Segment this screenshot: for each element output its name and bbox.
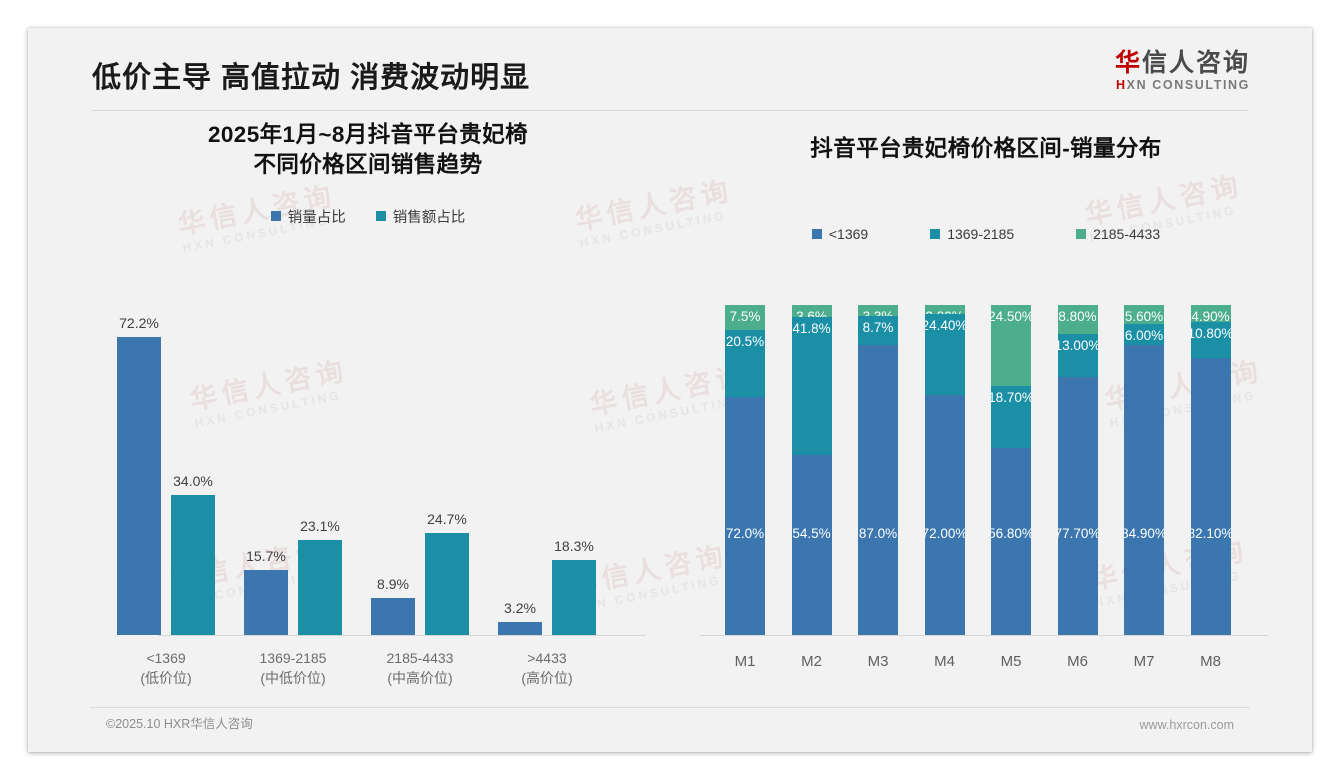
legend-swatch-blue (271, 211, 281, 221)
logo-chinese-text: 华信人咨询 (1115, 50, 1250, 76)
bar-value-label: 3.2% (504, 600, 536, 616)
logo-en-accent: H (1116, 78, 1127, 92)
legend-swatch-blue (812, 229, 822, 239)
segment-high-price[interactable]: 24.50% (991, 305, 1031, 386)
segment-value-label: 56.80% (991, 526, 1031, 541)
legend-swatch-teal (930, 229, 940, 239)
footer-website[interactable]: www.hxrcon.com (1140, 718, 1234, 732)
segment-low-price[interactable]: 77.70% (1058, 377, 1098, 635)
segment-high-price[interactable]: 4.90% (1191, 305, 1231, 322)
segment-value-label: 24.40% (925, 318, 965, 333)
segment-low-price[interactable]: 54.5% (792, 455, 832, 635)
segment-low-price[interactable]: 72.0% (725, 397, 765, 635)
legend-item-mid-price[interactable]: 1369-2185 (930, 226, 1014, 242)
segment-mid-price[interactable]: 20.5% (725, 330, 765, 398)
segment-value-label: 8.7% (863, 320, 894, 335)
segment-value-label: 13.00% (1058, 338, 1098, 353)
segment-mid-price[interactable]: 6.00% (1124, 324, 1164, 345)
bar-column[interactable]: 15.7% (244, 305, 288, 635)
segment-value-label: 24.50% (991, 309, 1031, 324)
x-axis-tick-label: M5 (981, 653, 1041, 670)
bar-value-label: 72.2% (119, 315, 159, 331)
legend-label: 2185-4433 (1093, 226, 1160, 242)
bar-column[interactable]: 23.1% (298, 305, 342, 635)
legend-item-low-price[interactable]: <1369 (812, 226, 868, 242)
segment-mid-price[interactable]: 13.00% (1058, 334, 1098, 377)
bar-rect[interactable] (244, 570, 288, 635)
x-tick-range: >4433 (472, 649, 622, 668)
footer-divider (90, 707, 1250, 708)
x-axis-tick-label: M2 (782, 653, 842, 670)
segment-value-label: 41.8% (792, 321, 830, 336)
logo-en-rest: XN CONSULTING (1127, 78, 1250, 92)
logo-english-text: HXN CONSULTING (1115, 78, 1250, 92)
segment-value-label: 72.00% (925, 526, 965, 541)
legend-label: <1369 (829, 226, 868, 242)
bar-column[interactable]: 72.2% (117, 305, 161, 635)
x-axis-tick-label: M1 (715, 653, 775, 670)
x-axis-line-left (158, 635, 646, 636)
segment-high-price[interactable]: 8.80% (1058, 305, 1098, 334)
plot-area-right: 7.5%20.5%72.0%M13.6%41.8%54.5%M23.3%8.7%… (698, 298, 1278, 688)
plot-area-left: 72.2%34.0%<1369(低价位)15.7%23.1%1369-2185(… (90, 298, 650, 688)
segment-value-label: 3.6% (796, 309, 827, 317)
bar-group: 15.7%23.1% (234, 305, 352, 635)
segment-high-price[interactable]: 5.60% (1124, 305, 1164, 324)
bar-group: 3.2%18.3% (488, 305, 606, 635)
x-axis-tick-label: >4433(高价位) (472, 649, 622, 688)
bar-value-label: 34.0% (173, 473, 213, 489)
bar-value-label: 24.7% (427, 511, 467, 527)
bar-column[interactable]: 3.2% (498, 305, 542, 635)
segment-high-price[interactable]: 2.80% (925, 305, 965, 314)
chart-title-left-line2: 不同价格区间销售趋势 (68, 150, 668, 180)
segment-mid-price[interactable]: 18.70% (991, 386, 1031, 448)
segment-low-price[interactable]: 87.0% (858, 345, 898, 635)
bar-rect[interactable] (298, 540, 342, 635)
legend-item-sales-volume[interactable]: 销量占比 (271, 206, 346, 227)
bar-rect[interactable] (425, 533, 469, 635)
segment-value-label: 3.3% (863, 309, 894, 316)
chart-panel-left: 2025年1月~8月抖音平台贵妃椅 不同价格区间销售趋势 销量占比 销售额占比 … (68, 120, 668, 680)
header: 低价主导 高值拉动 消费波动明显 华信人咨询 HXN CONSULTING (28, 28, 1312, 112)
segment-mid-price[interactable]: 24.40% (925, 314, 965, 395)
segment-value-label: 6.00% (1125, 328, 1163, 343)
segment-mid-price[interactable]: 41.8% (792, 317, 832, 455)
segment-value-label: 8.80% (1058, 309, 1096, 324)
legend-label: 销量占比 (288, 206, 346, 227)
segment-value-label: 10.80% (1191, 326, 1231, 341)
legend-item-high-price[interactable]: 2185-4433 (1076, 226, 1160, 242)
stacked-bar[interactable]: 8.80%13.00%77.70% (1058, 305, 1098, 635)
chart-legend-left: 销量占比 销售额占比 (68, 206, 668, 227)
segment-low-price[interactable]: 84.90% (1124, 345, 1164, 635)
segment-mid-price[interactable]: 10.80% (1191, 322, 1231, 358)
chart-legend-right: <1369 1369-2185 2185-4433 (688, 226, 1284, 242)
x-axis-line-right (700, 635, 1268, 636)
segment-value-label: 18.70% (991, 390, 1031, 405)
segment-low-price[interactable]: 72.00% (925, 395, 965, 635)
segment-value-label: 72.0% (726, 526, 764, 541)
segment-value-label: 20.5% (726, 334, 764, 349)
segment-value-label: 5.60% (1125, 309, 1163, 324)
bar-rect[interactable] (371, 598, 415, 635)
segment-mid-price[interactable]: 8.7% (858, 316, 898, 345)
segment-value-label: 4.90% (1191, 309, 1229, 322)
segment-low-price[interactable]: 82.10% (1191, 358, 1231, 635)
legend-swatch-green (1076, 229, 1086, 239)
x-axis-tick-label: M4 (915, 653, 975, 670)
bar-value-label: 8.9% (377, 576, 409, 592)
bar-rect[interactable] (171, 495, 215, 635)
x-axis-tick-label: M7 (1114, 653, 1174, 670)
x-tick-tier: (高价位) (472, 669, 622, 688)
chart-title-left-line1: 2025年1月~8月抖音平台贵妃椅 (68, 120, 668, 150)
bar-value-label: 18.3% (554, 538, 594, 554)
logo-cn-rest: 信人咨询 (1142, 49, 1250, 77)
bar-column[interactable]: 8.9% (371, 305, 415, 635)
segment-value-label: 87.0% (859, 526, 897, 541)
x-axis-tick-label: M6 (1048, 653, 1108, 670)
chart-panel-right: 抖音平台贵妃椅价格区间-销量分布 <1369 1369-2185 2185-44… (688, 120, 1284, 680)
chart-title-left: 2025年1月~8月抖音平台贵妃椅 不同价格区间销售趋势 (68, 120, 668, 180)
x-axis-tick-wrap: >4433(高价位) (472, 649, 622, 688)
stacked-bar[interactable]: 3.6%41.8%54.5% (792, 305, 832, 635)
segment-value-label: 84.90% (1124, 526, 1164, 541)
slide-canvas: 低价主导 高值拉动 消费波动明显 华信人咨询 HXN CONSULTING 华信… (28, 28, 1312, 752)
bar-value-label: 23.1% (300, 518, 340, 534)
legend-label: 1369-2185 (947, 226, 1014, 242)
segment-high-price[interactable]: 3.6% (792, 305, 832, 317)
bar-column[interactable]: 18.3% (552, 305, 596, 635)
company-logo: 华信人咨询 HXN CONSULTING (1115, 50, 1250, 92)
segment-high-price[interactable]: 7.5% (725, 305, 765, 330)
legend-item-sales-amount[interactable]: 销售额占比 (376, 206, 466, 227)
chart-title-right: 抖音平台贵妃椅价格区间-销量分布 (688, 120, 1284, 164)
page-title: 低价主导 高值拉动 消费波动明显 (92, 54, 530, 96)
segment-high-price[interactable]: 3.3% (858, 305, 898, 316)
x-axis-tick-label: M3 (848, 653, 908, 670)
bar-rect[interactable] (117, 337, 161, 635)
x-axis-tick-label: M8 (1181, 653, 1241, 670)
segment-value-label: 77.70% (1058, 526, 1098, 541)
stacked-bar[interactable]: 2.80%24.40%72.00% (925, 305, 965, 635)
footer-copyright: ©2025.10 HXR华信人咨询 (106, 713, 253, 732)
bar-group: 8.9%24.7% (361, 305, 479, 635)
bar-value-label: 15.7% (246, 548, 286, 564)
logo-cn-accent: 华 (1115, 49, 1142, 77)
bar-column[interactable]: 34.0% (171, 305, 215, 635)
stacked-bar[interactable]: 3.3%8.7%87.0% (858, 305, 898, 635)
header-divider (92, 110, 1248, 111)
segment-value-label: 82.10% (1191, 526, 1231, 541)
bar-rect[interactable] (498, 622, 542, 635)
stacked-bar[interactable]: 5.60%6.00%84.90% (1124, 305, 1164, 635)
stacked-bar[interactable]: 7.5%20.5%72.0% (725, 305, 765, 635)
legend-label: 销售额占比 (393, 206, 466, 227)
bar-group: 72.2%34.0% (107, 305, 225, 635)
bar-rect[interactable] (552, 560, 596, 635)
stacked-bar[interactable]: 4.90%10.80%82.10% (1191, 305, 1231, 635)
stacked-bar[interactable]: 24.50%18.70%56.80% (991, 305, 1031, 635)
legend-swatch-teal (376, 211, 386, 221)
bar-column[interactable]: 24.7% (425, 305, 469, 635)
segment-value-label: 54.5% (792, 526, 830, 541)
segment-low-price[interactable]: 56.80% (991, 448, 1031, 635)
segment-value-label: 7.5% (730, 309, 761, 324)
